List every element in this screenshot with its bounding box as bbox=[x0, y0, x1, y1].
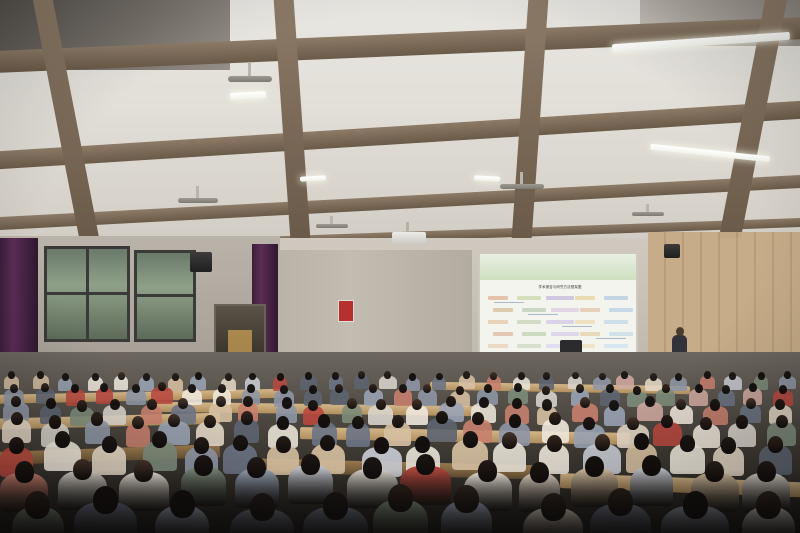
wall-speaker-right bbox=[664, 244, 680, 258]
audience-head bbox=[736, 415, 748, 428]
audience-head bbox=[541, 493, 566, 521]
audience-head bbox=[784, 371, 791, 379]
audience-head bbox=[241, 411, 253, 424]
audience-head bbox=[758, 372, 765, 380]
slide-connector bbox=[528, 314, 558, 315]
audience-head bbox=[549, 412, 561, 425]
audience-head bbox=[512, 398, 522, 409]
audience-head bbox=[204, 415, 216, 428]
audience-head bbox=[662, 384, 670, 393]
audience-head bbox=[633, 386, 641, 395]
slide-chip bbox=[604, 320, 628, 324]
photo-scene: 学术报告与研究方法框架图 bbox=[0, 0, 800, 533]
audience-head bbox=[530, 462, 549, 483]
audience-head bbox=[93, 486, 118, 514]
audience-head bbox=[409, 373, 416, 381]
audience-head bbox=[92, 373, 99, 381]
audience-head bbox=[572, 372, 579, 380]
audience-head bbox=[416, 454, 435, 475]
audience-head bbox=[280, 385, 288, 394]
audience-head bbox=[15, 461, 34, 482]
slide-connector bbox=[494, 302, 524, 303]
audience-head bbox=[247, 457, 266, 478]
audience-head bbox=[705, 461, 724, 482]
audience-head bbox=[661, 415, 673, 428]
audience-head bbox=[456, 386, 464, 395]
audience-head bbox=[216, 396, 226, 407]
audience-head bbox=[621, 371, 628, 379]
audience-head bbox=[46, 398, 56, 409]
audience-head bbox=[132, 416, 144, 429]
audience-head bbox=[776, 415, 788, 428]
audience-head bbox=[695, 384, 703, 393]
window-mullion-2 bbox=[44, 292, 130, 295]
ceiling-fan-blades-5 bbox=[228, 76, 272, 82]
audience-head bbox=[41, 383, 49, 392]
audience-head bbox=[642, 455, 661, 476]
audience-head bbox=[188, 384, 196, 393]
slide-chip bbox=[551, 332, 579, 336]
audience-head bbox=[502, 432, 517, 449]
audience-head bbox=[305, 372, 312, 380]
audience-head bbox=[194, 455, 213, 476]
audience-head bbox=[454, 485, 479, 513]
audience-head bbox=[399, 384, 407, 393]
audience-head bbox=[729, 372, 736, 380]
audience-head bbox=[484, 384, 492, 393]
audience-head bbox=[102, 436, 117, 453]
audience-head bbox=[463, 371, 470, 379]
audience-head bbox=[170, 490, 195, 518]
slide-header-band bbox=[480, 254, 636, 280]
audience-head bbox=[91, 412, 103, 425]
audience-head bbox=[55, 431, 70, 448]
audience-head bbox=[358, 371, 365, 379]
audience-head bbox=[11, 396, 21, 407]
slide-title: 学术报告与研究方法框架图 bbox=[486, 284, 634, 289]
ceiling-fan-blades-1 bbox=[178, 198, 218, 203]
audience-head bbox=[332, 372, 339, 380]
audience-head bbox=[779, 385, 787, 394]
audience-head bbox=[676, 399, 686, 410]
audience-head bbox=[599, 373, 606, 381]
audience-head bbox=[650, 373, 657, 381]
audience-head bbox=[225, 373, 232, 381]
audience-head bbox=[233, 435, 248, 452]
audience-head bbox=[756, 491, 781, 519]
audience-head bbox=[436, 373, 443, 381]
audience-head bbox=[775, 399, 785, 410]
slide-chip bbox=[580, 308, 600, 312]
audience-head bbox=[392, 415, 404, 428]
audience-head bbox=[547, 435, 562, 452]
audience-head bbox=[110, 399, 120, 410]
audience-head bbox=[143, 373, 150, 381]
audience-head bbox=[478, 460, 497, 481]
audience-head bbox=[172, 373, 179, 381]
audience-head bbox=[376, 399, 386, 410]
audience-head bbox=[436, 411, 448, 424]
audience-head bbox=[49, 415, 61, 428]
audience-head bbox=[10, 384, 18, 393]
audience-head bbox=[608, 488, 633, 516]
audience-head bbox=[73, 459, 92, 480]
audience-head bbox=[352, 416, 364, 429]
projector bbox=[392, 232, 426, 245]
ceiling-fan-blades-2 bbox=[316, 224, 348, 228]
audience-head bbox=[721, 437, 736, 454]
slide-chip bbox=[522, 332, 546, 336]
slide-chip bbox=[575, 320, 595, 324]
audience-head bbox=[595, 434, 610, 451]
audience-head bbox=[8, 371, 15, 379]
audience-head bbox=[722, 385, 730, 394]
audience-head bbox=[683, 491, 708, 519]
audience-head bbox=[62, 373, 69, 381]
audience-head bbox=[347, 398, 357, 409]
fire-notice-sign bbox=[338, 300, 354, 322]
slide-chip bbox=[546, 320, 574, 324]
slide-chip bbox=[546, 296, 574, 300]
slide-chip bbox=[609, 308, 633, 312]
audience-head bbox=[277, 416, 289, 429]
slide-chip bbox=[522, 308, 546, 312]
audience-head bbox=[675, 373, 682, 381]
slide-chip bbox=[551, 308, 579, 312]
slide-chip bbox=[488, 344, 508, 348]
audience-head bbox=[309, 385, 317, 394]
audience-head bbox=[645, 396, 655, 407]
slide-chip bbox=[604, 296, 628, 300]
audience-head bbox=[320, 435, 335, 452]
audience-head bbox=[542, 399, 552, 410]
audience-head bbox=[514, 383, 522, 392]
audience-head bbox=[580, 397, 590, 408]
audience-head bbox=[132, 384, 140, 393]
audience-head bbox=[194, 437, 209, 454]
audience-head bbox=[415, 436, 430, 453]
slide-chip bbox=[517, 296, 541, 300]
audience-head bbox=[158, 382, 166, 391]
audience-head bbox=[749, 383, 757, 392]
audience-head bbox=[301, 454, 320, 475]
presenter-head bbox=[676, 327, 684, 336]
audience-head bbox=[768, 436, 783, 453]
audience-head bbox=[509, 414, 521, 427]
audience-head bbox=[542, 386, 550, 395]
audience-head bbox=[9, 437, 24, 454]
audience-head bbox=[134, 460, 153, 481]
wall-speaker-left bbox=[190, 252, 212, 272]
audience-head bbox=[634, 433, 649, 450]
slide-chip bbox=[575, 296, 595, 300]
audience-head bbox=[25, 491, 50, 519]
projection-screen: 学术报告与研究方法框架图 bbox=[478, 252, 638, 364]
audience-head bbox=[585, 456, 604, 477]
audience-head bbox=[318, 414, 330, 427]
audience-head bbox=[479, 397, 489, 408]
slide-connector bbox=[562, 326, 592, 327]
audience-head bbox=[363, 457, 382, 478]
slide-chip bbox=[609, 332, 633, 336]
window-mullion-3 bbox=[134, 294, 196, 297]
audience-head bbox=[152, 431, 167, 448]
audience-head bbox=[627, 417, 639, 430]
audience-head bbox=[388, 484, 413, 512]
audience-head bbox=[335, 384, 343, 393]
audience-head bbox=[384, 371, 391, 379]
audience-head bbox=[463, 431, 478, 448]
audience-head bbox=[277, 373, 284, 381]
audience-head bbox=[757, 461, 776, 482]
audience-head bbox=[77, 400, 87, 411]
audience-head bbox=[195, 372, 202, 380]
audience-head bbox=[490, 372, 497, 380]
audience-head bbox=[746, 398, 756, 409]
audience-head bbox=[147, 399, 157, 410]
audience-head bbox=[543, 372, 550, 380]
audience-head bbox=[472, 412, 484, 425]
audience-head bbox=[576, 384, 584, 393]
audience-head bbox=[247, 384, 255, 393]
audience-head bbox=[374, 437, 389, 454]
slide-chip bbox=[517, 320, 541, 324]
slide-chip bbox=[517, 344, 541, 348]
audience-head bbox=[250, 493, 275, 521]
audience-head bbox=[118, 372, 125, 380]
audience-head bbox=[680, 435, 695, 452]
slide-chip bbox=[493, 332, 513, 336]
audience-head bbox=[37, 371, 44, 379]
audience-head bbox=[218, 384, 226, 393]
slide-chip bbox=[488, 296, 508, 300]
slide-chip bbox=[580, 332, 600, 336]
audience-head bbox=[308, 400, 318, 411]
audience-head bbox=[700, 417, 712, 430]
audience-head bbox=[282, 397, 292, 408]
audience-head bbox=[168, 414, 180, 427]
audience-head bbox=[276, 436, 291, 453]
ceiling-fan-blades-4 bbox=[632, 212, 664, 216]
slide-chip bbox=[604, 344, 628, 348]
slide-connector bbox=[596, 338, 626, 339]
audience-head bbox=[710, 399, 720, 410]
ceiling-fan-blades-3 bbox=[500, 184, 544, 189]
audience-head bbox=[323, 492, 348, 520]
audience-head bbox=[100, 383, 108, 392]
audience-head bbox=[11, 412, 23, 425]
slide-chip bbox=[493, 308, 513, 312]
audience-head bbox=[704, 371, 711, 379]
audience-head bbox=[243, 396, 253, 407]
slide-chip bbox=[488, 320, 508, 324]
